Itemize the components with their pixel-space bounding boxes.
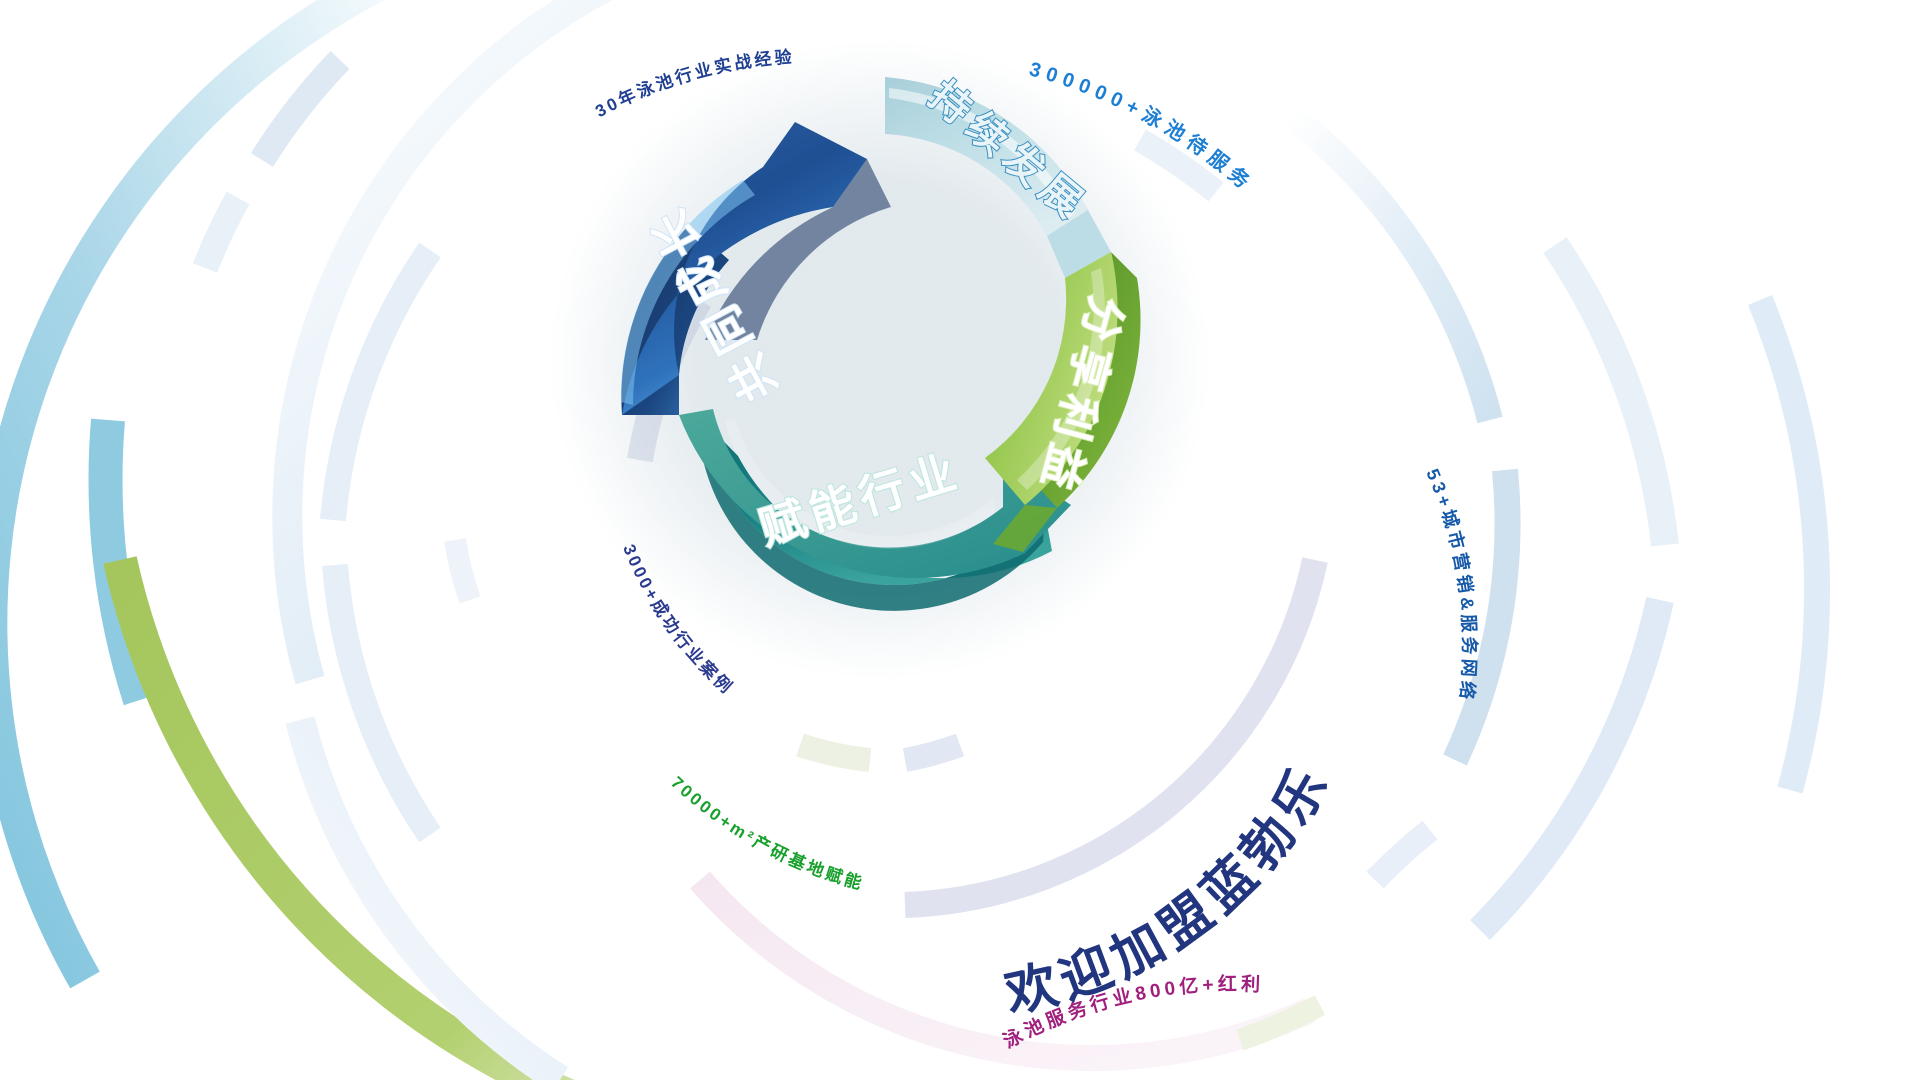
bg-ring-fourth-b (1480, 600, 1660, 930)
callout-base-text: 70000+m²产研基地赋能 (667, 773, 867, 894)
bg-ring-far-right (1760, 300, 1817, 790)
poster-canvas: 赋能行业 共同成长 持续发展 (0, 0, 1920, 1080)
bg-ring-third-a (1290, 115, 1490, 420)
callout-base: 70000+m²产研基地赋能 (667, 773, 867, 894)
poster-artwork: 赋能行业 共同成长 持续发展 (0, 0, 1920, 1080)
bg-ring-third-d (335, 565, 430, 835)
bg-ring-fourth-a (1555, 245, 1665, 545)
bg-ring-outer-left (0, 0, 430, 980)
